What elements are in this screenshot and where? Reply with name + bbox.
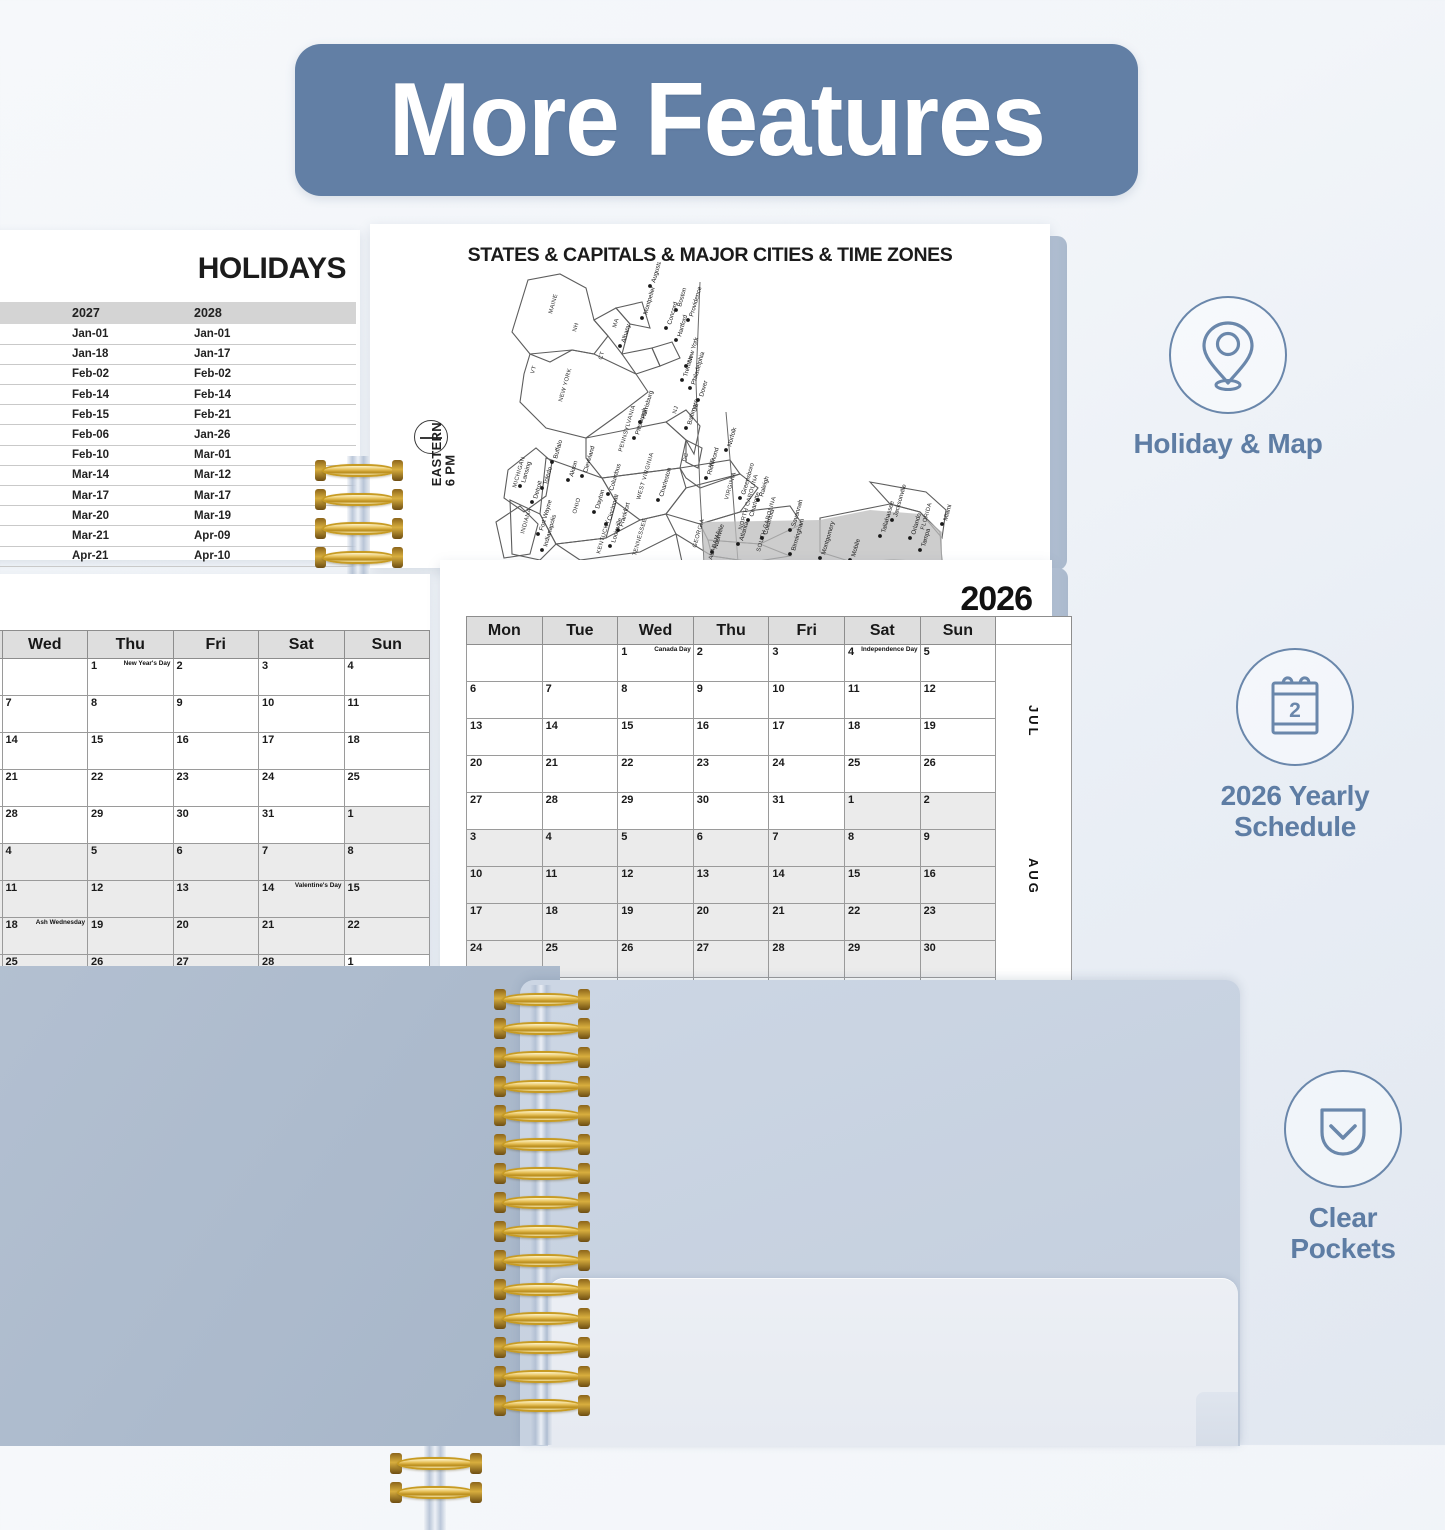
- calendar-day-cell[interactable]: 23: [920, 904, 996, 941]
- holidays-date-cell: Jan-17: [186, 344, 356, 364]
- calendar-day-cell[interactable]: 18Ash Wednesday: [2, 918, 88, 955]
- calendar-day-cell[interactable]: 3: [769, 645, 845, 682]
- calendar-day-cell[interactable]: 21: [259, 918, 345, 955]
- calendar-day-number: 7: [262, 845, 268, 857]
- calendar-day-cell[interactable]: 19: [88, 918, 174, 955]
- calendar-day-cell[interactable]: 10: [769, 682, 845, 719]
- calendar-day-cell[interactable]: 28: [542, 793, 618, 830]
- map-city-label: Hartford: [676, 314, 689, 338]
- calendar-day-cell[interactable]: 26: [920, 756, 996, 793]
- calendar-day-cell[interactable]: 15: [344, 881, 430, 918]
- calendar-day-cell[interactable]: 15: [618, 719, 694, 756]
- map-city-dot: [632, 436, 636, 440]
- calendar-day-number: 21: [262, 919, 274, 931]
- calendar-day-number: 12: [621, 868, 633, 880]
- calendar-day-cell[interactable]: 21: [542, 756, 618, 793]
- spiral-coil: [494, 1308, 590, 1332]
- calendar-day-number: 30: [697, 794, 709, 806]
- calendar-day-number: 4: [6, 845, 12, 857]
- calendar-day-cell[interactable]: 12: [88, 881, 174, 918]
- calendar-page-left: TueWedThuFriSatSun 1New Year's Day234678…: [0, 574, 430, 974]
- table-row: -02Feb-02Feb-02: [0, 364, 356, 384]
- calendar-day-cell[interactable]: 8: [618, 682, 694, 719]
- calendar-day-cell[interactable]: 24: [259, 770, 345, 807]
- calendar-day-cell[interactable]: 15: [88, 733, 174, 770]
- calendar-day-cell[interactable]: 11: [542, 867, 618, 904]
- calendar-day-number: 18: [546, 905, 558, 917]
- calendar-day-cell[interactable]: 14: [769, 867, 845, 904]
- calendar-week-row: 202122232425: [0, 770, 430, 807]
- table-row: -20Mar-20Mar-19: [0, 506, 356, 526]
- calendar-weekday-header: Sun: [344, 631, 430, 659]
- calendar-holiday-label: Ash Wednesday: [5, 919, 85, 926]
- map-state-label: DE: [692, 402, 700, 412]
- calendar-week-row: 1Canada Day234Independence Day5JULAUGS: [467, 645, 1072, 682]
- calendar-day-number: 18: [848, 720, 860, 732]
- spiral-coil: [494, 1163, 590, 1187]
- holidays-date-cell: -18: [0, 445, 64, 465]
- calendar-day-cell[interactable]: 1New Year's Day: [88, 659, 174, 696]
- month-tab-label[interactable]: AUG: [1026, 858, 1041, 896]
- calendar-day-cell[interactable]: 7: [2, 696, 88, 733]
- feature-label: Clear Pockets: [1245, 1202, 1441, 1265]
- header-banner: More Features: [295, 44, 1138, 196]
- calendar-day-cell[interactable]: 8: [344, 844, 430, 881]
- calendar-day-cell[interactable]: 30: [173, 807, 259, 844]
- spiral-coil: [494, 1395, 590, 1419]
- calendar-day-number: 23: [697, 757, 709, 769]
- calendar-week-row: 3456789: [467, 830, 1072, 867]
- calendar-day-number: 3: [772, 646, 778, 658]
- table-row: -14Feb-14Feb-14: [0, 385, 356, 405]
- holidays-date-cell: -16: [0, 405, 64, 425]
- calendar-day-cell[interactable]: 16: [920, 867, 996, 904]
- calendar-day-cell[interactable]: 17: [467, 904, 543, 941]
- calendar-day-cell[interactable]: 26: [618, 941, 694, 978]
- map-city-dot: [788, 552, 792, 556]
- calendar-day-number: 15: [621, 720, 633, 732]
- calendar-day-cell[interactable]: 14: [2, 733, 88, 770]
- calendar-day-cell[interactable]: 30: [693, 793, 769, 830]
- calendar-day-number: 10: [772, 683, 784, 695]
- calendar-day-cell[interactable]: 28: [2, 807, 88, 844]
- calendar-day-cell[interactable]: 11: [2, 881, 88, 918]
- map-city-dot: [878, 534, 882, 538]
- calendar-day-cell[interactable]: 19: [618, 904, 694, 941]
- map-city-dot: [664, 326, 668, 330]
- calendar-day-cell[interactable]: 6: [693, 830, 769, 867]
- calendar-day-cell[interactable]: 20: [693, 904, 769, 941]
- calendar-day-number: 1: [848, 794, 854, 806]
- calendar-day-cell[interactable]: 27: [693, 941, 769, 978]
- calendar-day-number: 22: [91, 771, 103, 783]
- calendar-day-number: 12: [924, 683, 936, 695]
- calendar-day-cell[interactable]: 5: [88, 844, 174, 881]
- calendar-day-number: 2: [924, 794, 930, 806]
- map-city-dot: [530, 500, 534, 504]
- table-row: -17Feb-06Jan-26: [0, 425, 356, 445]
- calendar-day-cell[interactable]: 30: [920, 941, 996, 978]
- calendar-week-row: 10111213141516: [467, 867, 1072, 904]
- calendar-day-number: 12: [91, 882, 103, 894]
- holidays-date-cell: Feb-10: [64, 445, 186, 465]
- map-city-label: Akron: [568, 460, 579, 478]
- calendar-icon-number: 2: [1289, 699, 1301, 722]
- calendar-day-cell[interactable]: 9: [920, 830, 996, 867]
- feature-holiday-map: Holiday & Map: [1103, 296, 1353, 459]
- map-city-label: Norfolk: [726, 426, 738, 448]
- holidays-date-cell: Mar-20: [64, 506, 186, 526]
- map-city-dot: [592, 510, 596, 514]
- calendar-day-number: 27: [697, 942, 709, 954]
- calendar-day-cell[interactable]: 23: [173, 770, 259, 807]
- holidays-column-header: 2027: [64, 302, 186, 324]
- map-state-label: MAINE: [548, 293, 559, 314]
- holidays-date-cell: Jan-18: [64, 344, 186, 364]
- map-city-dot: [580, 474, 584, 478]
- calendar-day-number: 30: [924, 942, 936, 954]
- calendar-day-cell[interactable]: 8: [88, 696, 174, 733]
- calendar-day-number: 3: [470, 831, 476, 843]
- calendar-day-cell[interactable]: 12: [920, 682, 996, 719]
- spiral-coil: [494, 1192, 590, 1216]
- calendar-day-number: 5: [91, 845, 97, 857]
- calendar-day-number: 19: [91, 919, 103, 931]
- calendar-day-number: 22: [848, 905, 860, 917]
- calendar-weekday-header: Thu: [88, 631, 174, 659]
- spiral-coil: [494, 1047, 590, 1071]
- map-city-label: Albany: [620, 323, 632, 344]
- holidays-column-header: 2028: [186, 302, 356, 324]
- calendar-day-cell[interactable]: 10: [259, 696, 345, 733]
- calendar-day-cell[interactable]: 6: [173, 844, 259, 881]
- calendar-day-cell[interactable]: 4: [2, 844, 88, 881]
- calendar-day-cell[interactable]: 29: [844, 941, 920, 978]
- calendar-weekday-header: Fri: [769, 617, 845, 645]
- holidays-map-spread: HOLIDAYS 202620272028 -01Jan-01Jan-01-19…: [0, 216, 1120, 566]
- feature-label-line2: Schedule: [1175, 811, 1415, 842]
- map-state-label: INDIANA: [520, 508, 533, 535]
- map-city-label: Providence: [688, 285, 703, 317]
- calendar-day-cell[interactable]: 28: [769, 941, 845, 978]
- calendar-day-cell[interactable]: 2: [693, 645, 769, 682]
- holidays-date-cell: -02: [0, 364, 64, 384]
- map-state-label: MA: [612, 318, 620, 329]
- calendar-day-cell[interactable]: 17: [259, 733, 345, 770]
- calendar-day-cell[interactable]: 14: [542, 719, 618, 756]
- holidays-date-cell: -17: [0, 425, 64, 445]
- calendar-holiday-label: Independence Day: [838, 646, 918, 653]
- holidays-date-cell: Feb-02: [64, 364, 186, 384]
- calendar-day-cell[interactable]: 17: [769, 719, 845, 756]
- calendar-day-cell[interactable]: 8: [844, 830, 920, 867]
- calendar-day-number: 11: [546, 868, 558, 880]
- calendar-week-row: 67891011: [0, 696, 430, 733]
- spiral-coil: [494, 1076, 590, 1100]
- table-row: -01Jan-01Jan-01: [0, 324, 356, 344]
- calendar-day-number: 8: [348, 845, 354, 857]
- calendar-day-number: 31: [772, 794, 784, 806]
- calendar-day-cell[interactable]: 5: [618, 830, 694, 867]
- calendar-day-cell[interactable]: 4: [344, 659, 430, 696]
- calendar-day-number: 6: [697, 831, 703, 843]
- calendar-day-number: 16: [697, 720, 709, 732]
- feature-yearly-schedule: 2 2026 Yearly Schedule: [1175, 648, 1415, 843]
- calendar-day-number: 21: [6, 771, 18, 783]
- calendar-week-row: 17181920212223: [467, 904, 1072, 941]
- map-state-label: TENNESSEE: [632, 518, 648, 557]
- calendar-day-cell[interactable]: 7: [259, 844, 345, 881]
- calendar-day-cell[interactable]: 24: [769, 756, 845, 793]
- calendar-day-number: 21: [546, 757, 558, 769]
- calendar-week-row: 13141516171819: [467, 719, 1072, 756]
- calendar-day-cell[interactable]: 2: [173, 659, 259, 696]
- spiral-coil: [494, 1105, 590, 1129]
- calendar-day-number: 25: [546, 942, 558, 954]
- calendar-page-right: 2026 MonTueWedThuFriSatSun 1Canada Day23…: [440, 560, 1052, 976]
- calendar-week-row: 17Chinese New Year18Ash Wednesday1920212…: [0, 918, 430, 955]
- holidays-table: 202620272028 -01Jan-01Jan-01-19Jan-18Jan…: [0, 302, 356, 567]
- calendar-day-cell[interactable]: [542, 645, 618, 682]
- calendar-day-number: 23: [177, 771, 189, 783]
- calendar-day-number: 8: [621, 683, 627, 695]
- map-city-label: Toledo: [542, 466, 554, 486]
- map-state-label: OHIO: [572, 497, 582, 515]
- map-city-dot: [918, 548, 922, 552]
- calendar-day-cell[interactable]: 18: [344, 733, 430, 770]
- calendar-day-cell[interactable]: 10: [467, 867, 543, 904]
- calendar-day-number: 16: [924, 868, 936, 880]
- map-state-label: NH: [572, 322, 580, 332]
- calendar-day-cell[interactable]: 1Canada Day: [618, 645, 694, 682]
- calendar-day-cell[interactable]: [2, 659, 88, 696]
- map-state-label: NEW YORK: [558, 368, 573, 403]
- pocket-chevron-icon: [1308, 1094, 1378, 1164]
- calendar-day-cell[interactable]: 25: [344, 770, 430, 807]
- calendar-day-number: 17: [262, 734, 274, 746]
- spiral-coil: [315, 518, 403, 542]
- clear-pocket: [548, 1278, 1238, 1446]
- spiral-coil: [494, 1221, 590, 1245]
- calendar-day-cell[interactable]: 18: [542, 904, 618, 941]
- calendar-weekday-header: Tue: [542, 617, 618, 645]
- map-city-dot: [566, 478, 570, 482]
- calendar-day-cell[interactable]: 22: [844, 904, 920, 941]
- calendar-day-number: 25: [348, 771, 360, 783]
- map-state-label: VT: [530, 365, 538, 375]
- holidays-date-cell: -20: [0, 506, 64, 526]
- calendar-day-cell[interactable]: 6: [467, 682, 543, 719]
- calendar-day-cell[interactable]: 14Valentine's Day: [259, 881, 345, 918]
- spiral-coil: [390, 1453, 482, 1477]
- calendar-day-number: 28: [6, 808, 18, 820]
- calendar-day-cell[interactable]: 22: [618, 756, 694, 793]
- calendar-day-number: 11: [6, 882, 18, 894]
- calendar-weekday-header: Fri: [173, 631, 259, 659]
- spiral-coil: [494, 1250, 590, 1274]
- calendar-day-cell[interactable]: 12: [618, 867, 694, 904]
- holidays-date-cell: -01: [0, 324, 64, 344]
- calendar-day-cell[interactable]: 21: [2, 770, 88, 807]
- calendar-day-cell[interactable]: 11: [844, 682, 920, 719]
- product-feature-graphic: More Features HOLIDAYS 202620272028 -01J…: [0, 0, 1445, 1445]
- calendar-day-number: 15: [91, 734, 103, 746]
- calendar-day-number: 17: [470, 905, 482, 917]
- calendar-day-cell[interactable]: 16: [693, 719, 769, 756]
- map-city-label: Cincinnati: [606, 494, 620, 522]
- calendar-week-row: 6789101112: [467, 682, 1072, 719]
- calendar-day-cell[interactable]: 13: [693, 867, 769, 904]
- calendar-day-cell[interactable]: 3: [467, 830, 543, 867]
- holidays-date-cell: Mar-17: [64, 486, 186, 506]
- map-city-dot: [618, 344, 622, 348]
- spiral-coil: [494, 1279, 590, 1303]
- holidays-date-cell: -08: [0, 465, 64, 485]
- table-row: -08Mar-14Mar-12: [0, 465, 356, 485]
- calendar-day-number: 24: [262, 771, 274, 783]
- calendar-day-cell[interactable]: 15: [844, 867, 920, 904]
- month-tab-header: [996, 617, 1072, 645]
- calendar-day-cell[interactable]: 29: [88, 807, 174, 844]
- calendar-day-cell[interactable]: 1: [844, 793, 920, 830]
- table-row: -18Feb-10Mar-01: [0, 445, 356, 465]
- calendar-day-number: 8: [848, 831, 854, 843]
- map-city-label: Concord: [666, 301, 679, 326]
- calendar-week-row: 272829303112: [467, 793, 1072, 830]
- calendar-day-cell[interactable]: 31: [259, 807, 345, 844]
- calendar-day-cell[interactable]: 31: [769, 793, 845, 830]
- map-city-label: Augusta: [650, 262, 663, 284]
- map-state-label: DC: [682, 452, 690, 462]
- calendar-day-cell[interactable]: 1: [344, 807, 430, 844]
- calendar-day-number: 22: [348, 919, 360, 931]
- calendar-day-number: 28: [546, 794, 558, 806]
- calendar-day-cell[interactable]: 3: [259, 659, 345, 696]
- map-state-label: KENTUCKY: [596, 519, 611, 554]
- calendar-day-number: 30: [177, 808, 189, 820]
- holidays-date-cell: -19: [0, 344, 64, 364]
- spiral-coil: [390, 1482, 482, 1506]
- calendar-day-cell[interactable]: 25: [844, 756, 920, 793]
- table-row: -16Feb-15Feb-21: [0, 405, 356, 425]
- holidays-column-header: 2026: [0, 302, 64, 324]
- calendar-year: 2026: [960, 580, 1032, 619]
- feature-icon-circle: 2: [1236, 648, 1354, 766]
- month-tab-label[interactable]: JUL: [1026, 705, 1041, 739]
- map-city-label: Buffalo: [552, 439, 564, 460]
- spiral-coil: [315, 460, 403, 484]
- calendar-day-number: 9: [697, 683, 703, 695]
- calendar-day-cell[interactable]: 7: [542, 682, 618, 719]
- calendar-day-cell[interactable]: 22: [344, 918, 430, 955]
- calendar-day-cell[interactable]: 7: [769, 830, 845, 867]
- calendar-day-number: 23: [924, 905, 936, 917]
- calendar-day-number: 24: [470, 942, 482, 954]
- calendar-day-number: 19: [621, 905, 633, 917]
- calendar-day-cell[interactable]: 13: [467, 719, 543, 756]
- map-city-label: Dover: [698, 380, 709, 398]
- calendar-day-number: 10: [470, 868, 482, 880]
- holidays-date-cell: Mar-21: [64, 526, 186, 546]
- calendar-day-number: 24: [772, 757, 784, 769]
- table-row: -17Mar-17Mar-17: [0, 486, 356, 506]
- calendar-day-cell[interactable]: 13: [173, 881, 259, 918]
- holidays-date-cell: Mar-14: [64, 465, 186, 485]
- clear-pocket-notch: [1196, 1392, 1238, 1446]
- calendar-day-cell[interactable]: 19: [920, 719, 996, 756]
- feature-label-line1: Clear: [1245, 1202, 1441, 1233]
- map-city-dot: [738, 496, 742, 500]
- calendar-day-number: 9: [177, 697, 183, 709]
- calendar-day-number: 7: [6, 697, 12, 709]
- feature-label: Holiday & Map: [1103, 428, 1353, 459]
- calendar-day-number: 20: [697, 905, 709, 917]
- map-city-dot: [788, 528, 792, 532]
- calendar-day-cell[interactable]: 16: [173, 733, 259, 770]
- calendar-day-number: 6: [177, 845, 183, 857]
- calendar-day-cell[interactable]: 21: [769, 904, 845, 941]
- calendar-day-number: 7: [772, 831, 778, 843]
- holidays-date-cell: Feb-14: [186, 385, 356, 405]
- map-city-dot: [536, 532, 540, 536]
- calendar-day-cell[interactable]: 9: [173, 696, 259, 733]
- calendar-day-cell[interactable]: [467, 645, 543, 682]
- calendar-day-cell[interactable]: 27: [467, 793, 543, 830]
- holidays-date-cell: -17: [0, 486, 64, 506]
- calendar-day-cell[interactable]: 5: [920, 645, 996, 682]
- calendar-day-number: 20: [470, 757, 482, 769]
- banner-title: More Features: [388, 61, 1044, 180]
- calendar-day-number: 29: [848, 942, 860, 954]
- calendar-day-number: 1: [348, 808, 354, 820]
- map-state-label: VIRGINIA: [724, 471, 738, 500]
- map-state-label: WEST VIRGINIA: [636, 452, 655, 501]
- map-city-dot: [940, 522, 944, 526]
- spiral-binding-bottom: [494, 985, 590, 1445]
- calendar-day-cell[interactable]: 11: [344, 696, 430, 733]
- calendar-day-cell[interactable]: 20: [467, 756, 543, 793]
- calendar-day-cell[interactable]: 9: [693, 682, 769, 719]
- map-city-dot: [704, 476, 708, 480]
- map-state-label: NJ: [672, 405, 680, 414]
- map-city-label: Montpelier: [642, 286, 657, 316]
- map-city-dot: [680, 378, 684, 382]
- yearly-calendar-spread: TueWedThuFriSatSun 1New Year's Day234678…: [0, 560, 1120, 980]
- calendar-day-cell[interactable]: 4: [542, 830, 618, 867]
- calendar-day-cell[interactable]: 4Independence Day: [844, 645, 920, 682]
- calendar-day-number: 11: [348, 697, 360, 709]
- calendar-day-number: 25: [848, 757, 860, 769]
- calendar-day-cell[interactable]: 2: [920, 793, 996, 830]
- calendar-day-cell[interactable]: 23: [693, 756, 769, 793]
- holidays-date-cell: Feb-15: [64, 405, 186, 425]
- holidays-date-cell: Feb-06: [64, 425, 186, 445]
- map-city-dot: [736, 542, 740, 546]
- calendar-day-cell[interactable]: 22: [88, 770, 174, 807]
- calendar-holiday-label: New Year's Day: [91, 660, 171, 667]
- calendar-day-cell[interactable]: 18: [844, 719, 920, 756]
- table-row: -29Mar-21Apr-09: [0, 526, 356, 546]
- spiral-coil: [494, 989, 590, 1013]
- holidays-page: HOLIDAYS 202620272028 -01Jan-01Jan-01-19…: [0, 230, 360, 560]
- calendar-day-number: 31: [262, 808, 274, 820]
- calendar-day-number: 18: [348, 734, 360, 746]
- calendar-day-cell[interactable]: 20: [173, 918, 259, 955]
- calendar-day-cell[interactable]: 29: [618, 793, 694, 830]
- holidays-date-cell: Jan-01: [64, 324, 186, 344]
- map-city-label: Miami: [942, 504, 953, 522]
- calendar-week-row: 20212223242526: [467, 756, 1072, 793]
